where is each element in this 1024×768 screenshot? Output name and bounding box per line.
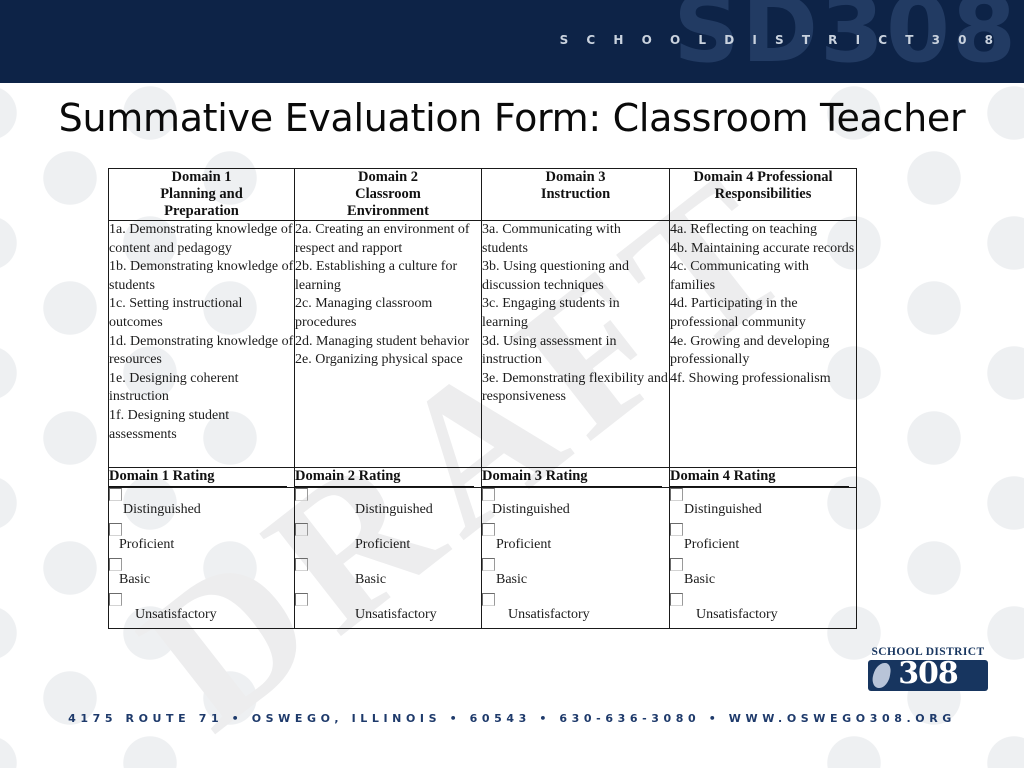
- domain-2-rating-options: Distinguished Proficient Basic Unsatisfa…: [295, 488, 482, 629]
- component-item: 3c. Engaging students in learning: [482, 295, 669, 332]
- page-title: Summative Evaluation Form: Classroom Tea…: [0, 96, 1024, 140]
- checkbox-label: Distinguished: [355, 502, 433, 518]
- domain-1-header-line-3: Preparation: [109, 203, 294, 220]
- domain-3-header: Domain 3 Instruction: [482, 169, 670, 221]
- checkbox-row-basic[interactable]: Basic: [482, 558, 669, 593]
- component-item: 3a. Communicating with students: [482, 221, 669, 258]
- checkbox-icon[interactable]: [482, 523, 495, 536]
- domain-3-rating-options: Distinguished Proficient Basic Unsatisfa…: [482, 488, 670, 629]
- domain-1-components: 1a. Demonstrating knowledge of content a…: [109, 221, 295, 468]
- footer-contact-info: 4175 ROUTE 71 • OSWEGO, ILLINOIS • 60543…: [0, 712, 1024, 725]
- component-item: 2e. Organizing physical space: [295, 351, 481, 370]
- domain-3-rating-header: Domain 3 Rating: [482, 468, 670, 488]
- checkbox-row-proficient[interactable]: Proficient: [295, 523, 481, 558]
- component-item: 4c. Communicating with families: [670, 258, 856, 295]
- domain-3-rating-label: Domain 3 Rating: [482, 468, 662, 487]
- checkbox-icon[interactable]: [109, 488, 122, 501]
- domain-2-components: 2a. Creating an environment of respect a…: [295, 221, 482, 468]
- school-district-wordmark: S C H O O L D I S T R I C T 3 0 8: [560, 33, 1000, 47]
- component-item: 1f. Designing student assessments: [109, 407, 294, 444]
- domain-4-header-line-1: Domain 4 Professional: [670, 169, 856, 186]
- domain-1-rating-label: Domain 1 Rating: [109, 468, 287, 487]
- domain-3-header-line-1: Domain 3: [482, 169, 669, 186]
- checkbox-row-unsatisfactory[interactable]: Unsatisfactory: [482, 593, 669, 628]
- domain-2-header-line-2: Classroom: [295, 186, 481, 203]
- checkbox-icon[interactable]: [109, 523, 122, 536]
- checkbox-label: Unsatisfactory: [135, 607, 217, 623]
- component-item: 1a. Demonstrating knowledge of content a…: [109, 221, 294, 258]
- slide-canvas: SD308 S C H O O L D I S T R I C T 3 0 8 …: [0, 0, 1024, 768]
- logo-school-district-text: SCHOOL DISTRICT: [868, 646, 988, 659]
- checkbox-row-basic[interactable]: Basic: [109, 558, 294, 593]
- checkbox-icon[interactable]: [295, 593, 308, 606]
- domain-2-header: Domain 2 Classroom Environment: [295, 169, 482, 221]
- checkbox-row-unsatisfactory[interactable]: Unsatisfactory: [109, 593, 294, 628]
- domain-4-rating-header: Domain 4 Rating: [670, 468, 857, 488]
- checkbox-icon[interactable]: [482, 558, 495, 571]
- checkbox-label: Proficient: [119, 537, 174, 553]
- component-item: 3e. Demonstrating flexibility and respon…: [482, 370, 669, 407]
- checkbox-label: Unsatisfactory: [508, 607, 590, 623]
- component-item: 3d. Using assessment in instruction: [482, 333, 669, 370]
- domain-4-header: Domain 4 Professional Responsibilities: [670, 169, 857, 221]
- checkbox-label: Basic: [119, 572, 150, 588]
- checkbox-label: Proficient: [684, 537, 739, 553]
- checkbox-icon[interactable]: [670, 523, 683, 536]
- checkbox-label: Basic: [355, 572, 386, 588]
- checkbox-icon[interactable]: [670, 488, 683, 501]
- checkbox-row-proficient[interactable]: Proficient: [109, 523, 294, 558]
- domain-4-components: 4a. Reflecting on teaching 4b. Maintaini…: [670, 221, 857, 468]
- domain-1-rating-header: Domain 1 Rating: [109, 468, 295, 488]
- component-item: 3b. Using questioning and discussion tec…: [482, 258, 669, 295]
- checkbox-row-proficient[interactable]: Proficient: [482, 523, 669, 558]
- component-item: 1e. Designing coherent instruction: [109, 370, 294, 407]
- checkbox-label: Basic: [496, 572, 527, 588]
- table-row-rating-headers: Domain 1 Rating Domain 2 Rating Domain 3…: [109, 468, 857, 488]
- checkbox-label: Distinguished: [492, 502, 570, 518]
- component-item: 4d. Participating in the professional co…: [670, 295, 856, 332]
- checkbox-icon[interactable]: [482, 593, 495, 606]
- component-item: 1c. Setting instructional outcomes: [109, 295, 294, 332]
- domain-3-header-line-2: Instruction: [482, 186, 669, 203]
- checkbox-icon[interactable]: [109, 593, 122, 606]
- domain-3-components: 3a. Communicating with students 3b. Usin…: [482, 221, 670, 468]
- component-item: 2b. Establishing a culture for learning: [295, 258, 481, 295]
- evaluation-form-table: Domain 1 Planning and Preparation Domain…: [108, 168, 857, 629]
- domain-2-header-line-1: Domain 2: [295, 169, 481, 186]
- table-row-domain-components: 1a. Demonstrating knowledge of content a…: [109, 221, 857, 468]
- logo-number-box: 308: [868, 660, 988, 691]
- checkbox-icon[interactable]: [295, 488, 308, 501]
- component-item: 1d. Demonstrating knowledge of resources: [109, 333, 294, 370]
- domain-1-header-line-2: Planning and: [109, 186, 294, 203]
- checkbox-icon[interactable]: [670, 593, 683, 606]
- domain-4-rating-options: Distinguished Proficient Basic Unsatisfa…: [670, 488, 857, 629]
- component-item: 4e. Growing and developing professionall…: [670, 333, 856, 370]
- district-logo: SCHOOL DISTRICT 308: [868, 646, 988, 692]
- checkbox-label: Proficient: [496, 537, 551, 553]
- domain-1-header-line-1: Domain 1: [109, 169, 294, 186]
- component-item: 2c. Managing classroom procedures: [295, 295, 481, 332]
- checkbox-label: Distinguished: [123, 502, 201, 518]
- checkbox-icon[interactable]: [295, 523, 308, 536]
- checkbox-icon[interactable]: [295, 558, 308, 571]
- component-item: 4b. Maintaining accurate records: [670, 240, 856, 259]
- domain-4-rating-label: Domain 4 Rating: [670, 468, 849, 487]
- checkbox-icon[interactable]: [670, 558, 683, 571]
- checkbox-label: Basic: [684, 572, 715, 588]
- checkbox-row-basic[interactable]: Basic: [670, 558, 856, 593]
- checkbox-row-unsatisfactory[interactable]: Unsatisfactory: [295, 593, 481, 628]
- checkbox-icon[interactable]: [482, 488, 495, 501]
- component-item: 2d. Managing student behavior: [295, 333, 481, 352]
- checkbox-icon[interactable]: [109, 558, 122, 571]
- domain-1-rating-options: Distinguished Proficient Basic Unsatisfa…: [109, 488, 295, 629]
- checkbox-row-unsatisfactory[interactable]: Unsatisfactory: [670, 593, 856, 628]
- checkbox-row-distinguished[interactable]: Distinguished: [295, 488, 481, 523]
- component-item: 4f. Showing professionalism: [670, 370, 856, 389]
- checkbox-row-distinguished[interactable]: Distinguished: [482, 488, 669, 523]
- component-item: 1b. Demonstrating knowledge of students: [109, 258, 294, 295]
- table-row-rating-options: Distinguished Proficient Basic Unsatisfa…: [109, 488, 857, 629]
- checkbox-label: Unsatisfactory: [355, 607, 437, 623]
- logo-number-text: 308: [868, 660, 988, 691]
- domain-2-header-line-3: Environment: [295, 203, 481, 220]
- checkbox-row-distinguished[interactable]: Distinguished: [670, 488, 856, 523]
- checkbox-row-distinguished[interactable]: Distinguished: [109, 488, 294, 523]
- domain-1-header: Domain 1 Planning and Preparation: [109, 169, 295, 221]
- checkbox-row-basic[interactable]: Basic: [295, 558, 481, 593]
- component-item: 2a. Creating an environment of respect a…: [295, 221, 481, 258]
- domain-2-rating-label: Domain 2 Rating: [295, 468, 474, 487]
- component-item: 4a. Reflecting on teaching: [670, 221, 856, 240]
- checkbox-label: Proficient: [355, 537, 410, 553]
- header-band: SD308 S C H O O L D I S T R I C T 3 0 8: [0, 0, 1024, 83]
- domain-4-header-line-2: Responsibilities: [670, 186, 856, 203]
- checkbox-row-proficient[interactable]: Proficient: [670, 523, 856, 558]
- table-row-domain-headers: Domain 1 Planning and Preparation Domain…: [109, 169, 857, 221]
- checkbox-label: Unsatisfactory: [696, 607, 778, 623]
- checkbox-label: Distinguished: [684, 502, 762, 518]
- domain-2-rating-header: Domain 2 Rating: [295, 468, 482, 488]
